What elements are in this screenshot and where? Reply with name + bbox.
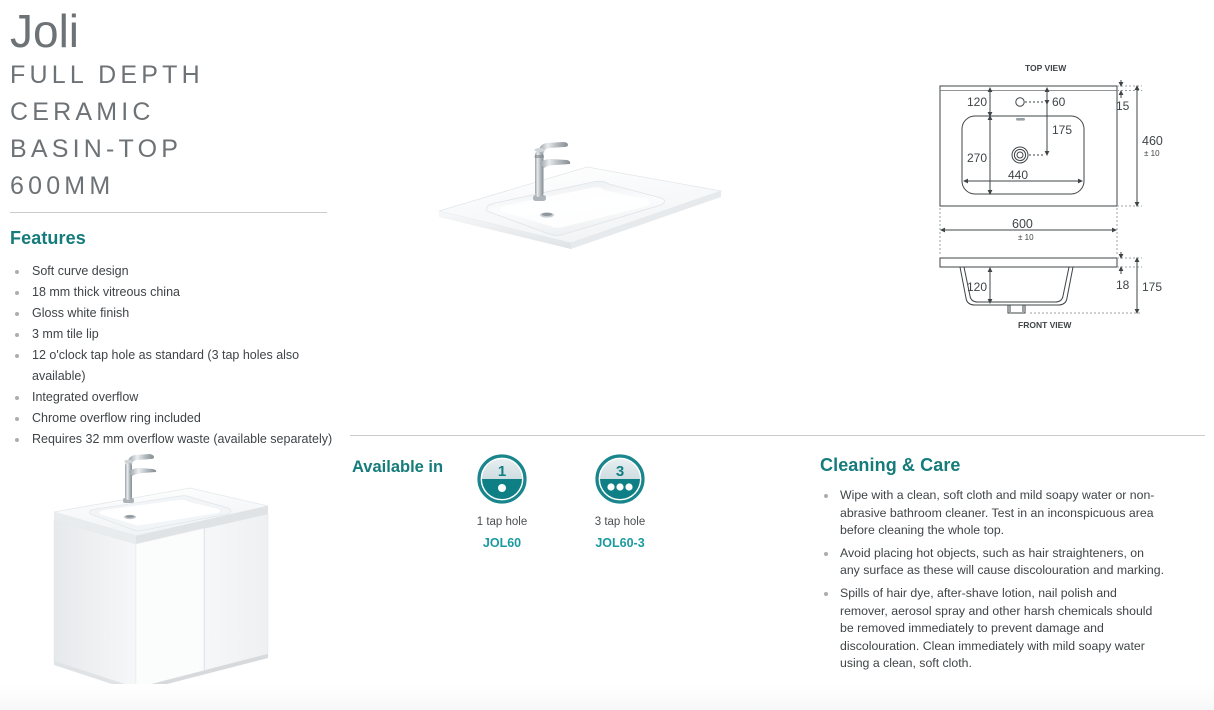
feature-item: 3 mm tile lip (10, 324, 350, 345)
tap-hole-options: 1 1 tap hole JOL60 (474, 453, 648, 551)
dim-600: 600 (1012, 217, 1033, 231)
vanity-unit-photo (40, 440, 310, 702)
dim-15: 15 (1116, 99, 1130, 113)
care-item: Spills of hair dye, after-shave lotion, … (820, 585, 1165, 673)
features-section: Features Soft curve design 18 mm thick v… (10, 228, 350, 450)
product-subtitle-line-3: BASIN-TOP (10, 132, 340, 167)
dim-460: 460 (1142, 134, 1163, 148)
badge-number: 3 (616, 463, 624, 480)
feature-item: Chrome overflow ring included (10, 408, 350, 429)
dim-18: 18 (1116, 278, 1130, 292)
dim-120-front: 120 (967, 280, 987, 294)
tap-hole-label: 1 tap hole (474, 515, 530, 529)
title-divider (10, 212, 327, 213)
cleaning-care-section: Cleaning & Care Wipe with a clean, soft … (820, 455, 1165, 678)
three-tap-hole-icon: 3 (594, 453, 646, 505)
product-name: Joli (10, 6, 340, 56)
page-bottom-fade (0, 684, 1214, 710)
product-subtitle-line-2: CERAMIC (10, 95, 340, 130)
tap-hole-option-3[interactable]: 3 3 tap hole JOL60-3 (592, 453, 648, 551)
product-code[interactable]: JOL60-3 (592, 536, 648, 551)
dim-175-top: 175 (1052, 123, 1072, 137)
top-view-label: TOP VIEW (1025, 63, 1067, 73)
spec-sheet-page: Joli FULL DEPTH CERAMIC BASIN-TOP 600MM … (0, 0, 1214, 710)
cleaning-care-list: Wipe with a clean, soft cloth and mild s… (820, 487, 1165, 673)
feature-item: 18 mm thick vitreous china (10, 282, 350, 303)
dim-175-front: 175 (1142, 280, 1162, 294)
feature-item: Integrated overflow (10, 387, 350, 408)
dim-60: 60 (1052, 95, 1066, 109)
cleaning-care-heading: Cleaning & Care (820, 455, 1165, 476)
feature-item: 12 o'clock tap hole as standard (3 tap h… (10, 345, 350, 387)
tap-hole-label: 3 tap hole (592, 515, 648, 529)
front-view-label: FRONT VIEW (1018, 320, 1072, 330)
features-heading: Features (10, 228, 350, 249)
one-tap-hole-icon: 1 (476, 453, 528, 505)
dim-600-tolerance: ± 10 (1018, 233, 1034, 242)
basin-product-photo (425, 95, 735, 255)
product-subtitle-line-4: 600MM (10, 169, 340, 204)
care-item: Avoid placing hot objects, such as hair … (820, 545, 1165, 580)
tap-hole-option-1[interactable]: 1 1 tap hole JOL60 (474, 453, 530, 551)
dim-460-tolerance: ± 10 (1144, 149, 1160, 158)
dim-440: 440 (1008, 168, 1028, 182)
feature-item: Soft curve design (10, 261, 350, 282)
care-item: Wipe with a clean, soft cloth and mild s… (820, 487, 1165, 540)
dim-120-top: 120 (967, 95, 987, 109)
features-list: Soft curve design 18 mm thick vitreous c… (10, 261, 350, 450)
product-subtitle-line-1: FULL DEPTH (10, 58, 340, 93)
technical-drawing: TOP VIEW 120 (930, 58, 1214, 343)
feature-item: Gloss white finish (10, 303, 350, 324)
section-divider (350, 435, 1205, 436)
product-code[interactable]: JOL60 (474, 536, 530, 551)
dim-270: 270 (967, 151, 987, 165)
badge-number: 1 (498, 463, 506, 480)
available-in-heading: Available in (352, 458, 443, 477)
title-block: Joli FULL DEPTH CERAMIC BASIN-TOP 600MM (10, 6, 340, 204)
